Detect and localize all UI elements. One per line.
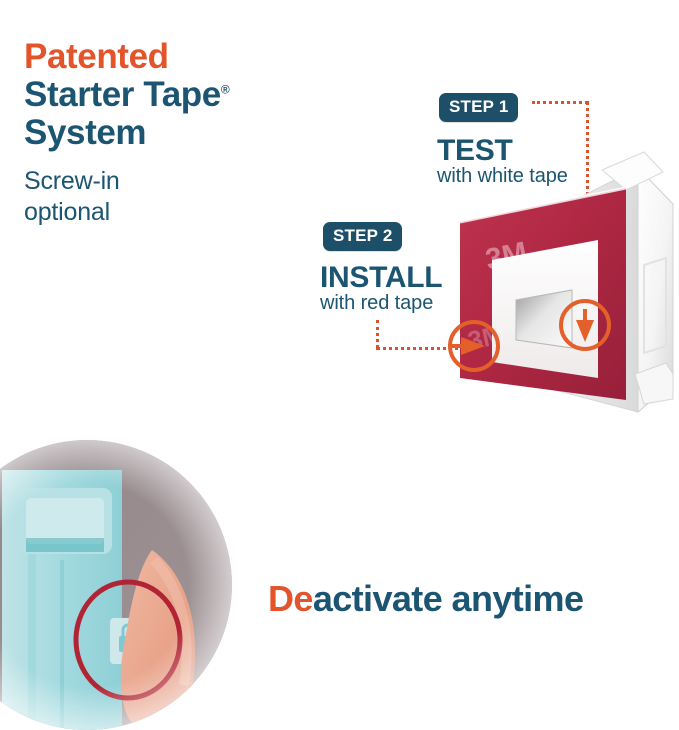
deactivate-photo-illustration [0, 440, 232, 730]
headline-patented: Patented [24, 38, 314, 76]
step-1-connector-horizontal [532, 101, 588, 104]
step-2-badge: STEP 2 [323, 222, 402, 251]
headline-starter-tape: Starter Tape® [24, 76, 314, 114]
step-2-detail: with red tape [320, 292, 433, 315]
subheadline-block: Screw-in optional [24, 166, 314, 227]
headline-system: System [24, 114, 314, 152]
deactivate-photo [0, 440, 232, 730]
step-2-action: INSTALL [320, 261, 442, 295]
registered-trademark-icon: ® [221, 82, 229, 96]
down-arrow-callout-icon [556, 296, 614, 354]
step-2-connector-vertical [376, 320, 379, 348]
marketing-infographic: Patented Starter Tape® System Screw-in o… [0, 0, 679, 666]
subheadline-line-1: Screw-in [24, 166, 314, 197]
deactivate-headline-rest: activate anytime [313, 578, 584, 619]
headline-block: Patented Starter Tape® System Screw-in o… [24, 38, 314, 227]
step-1-badge: STEP 1 [439, 93, 518, 122]
product-photo: 3M 3M [430, 150, 679, 440]
subheadline-line-2: optional [24, 197, 314, 228]
right-arrow-callout-icon [445, 317, 503, 375]
deactivate-headline: Deactivate anytime [268, 578, 583, 620]
product-illustration: 3M 3M [430, 150, 679, 440]
headline-starter-tape-text: Starter Tape [24, 75, 221, 114]
deactivate-headline-accent: De [268, 578, 313, 619]
